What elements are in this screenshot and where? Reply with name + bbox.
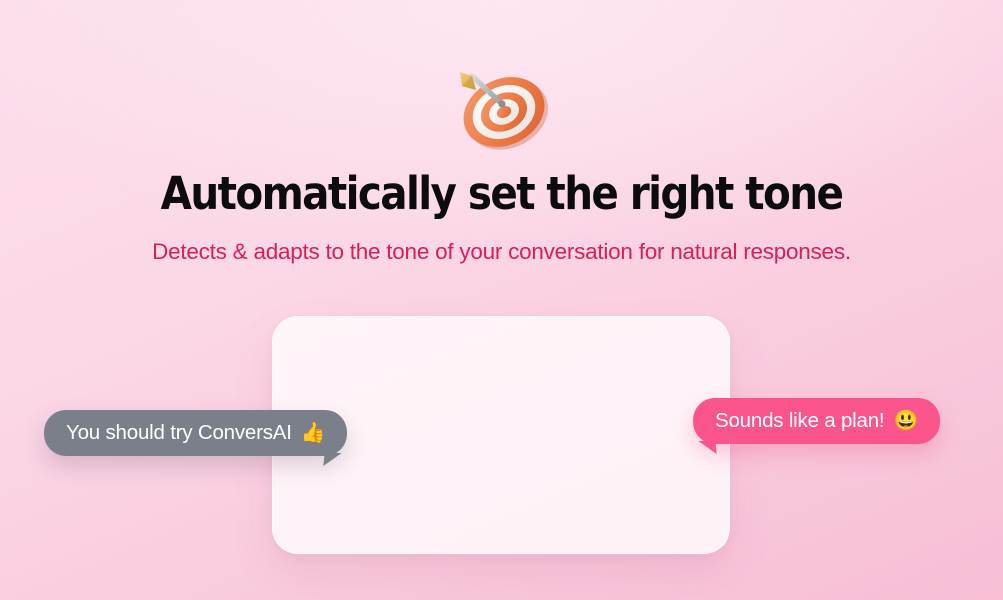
chat-bubble-incoming: You should try ConversAI 👍 (44, 410, 347, 456)
chat-bubble-outgoing: Sounds like a plan! 😃 (693, 398, 940, 444)
page-subtitle: Detects & adapts to the tone of your con… (0, 239, 1003, 265)
bubble-tail (698, 441, 716, 454)
chat-bubble-text: You should try ConversAI (66, 421, 292, 445)
bubble-tail (324, 453, 342, 466)
page-title: Automatically set the right tone (0, 170, 1003, 219)
target-dart-emoji (442, 52, 562, 162)
chat-bubble-text: Sounds like a plan! (715, 409, 884, 433)
thumbs-up-emoji: 👍 (301, 423, 326, 443)
grinning-face-emoji: 😃 (893, 411, 918, 431)
hero-section: Automatically set the right tone Detects… (0, 0, 1003, 265)
